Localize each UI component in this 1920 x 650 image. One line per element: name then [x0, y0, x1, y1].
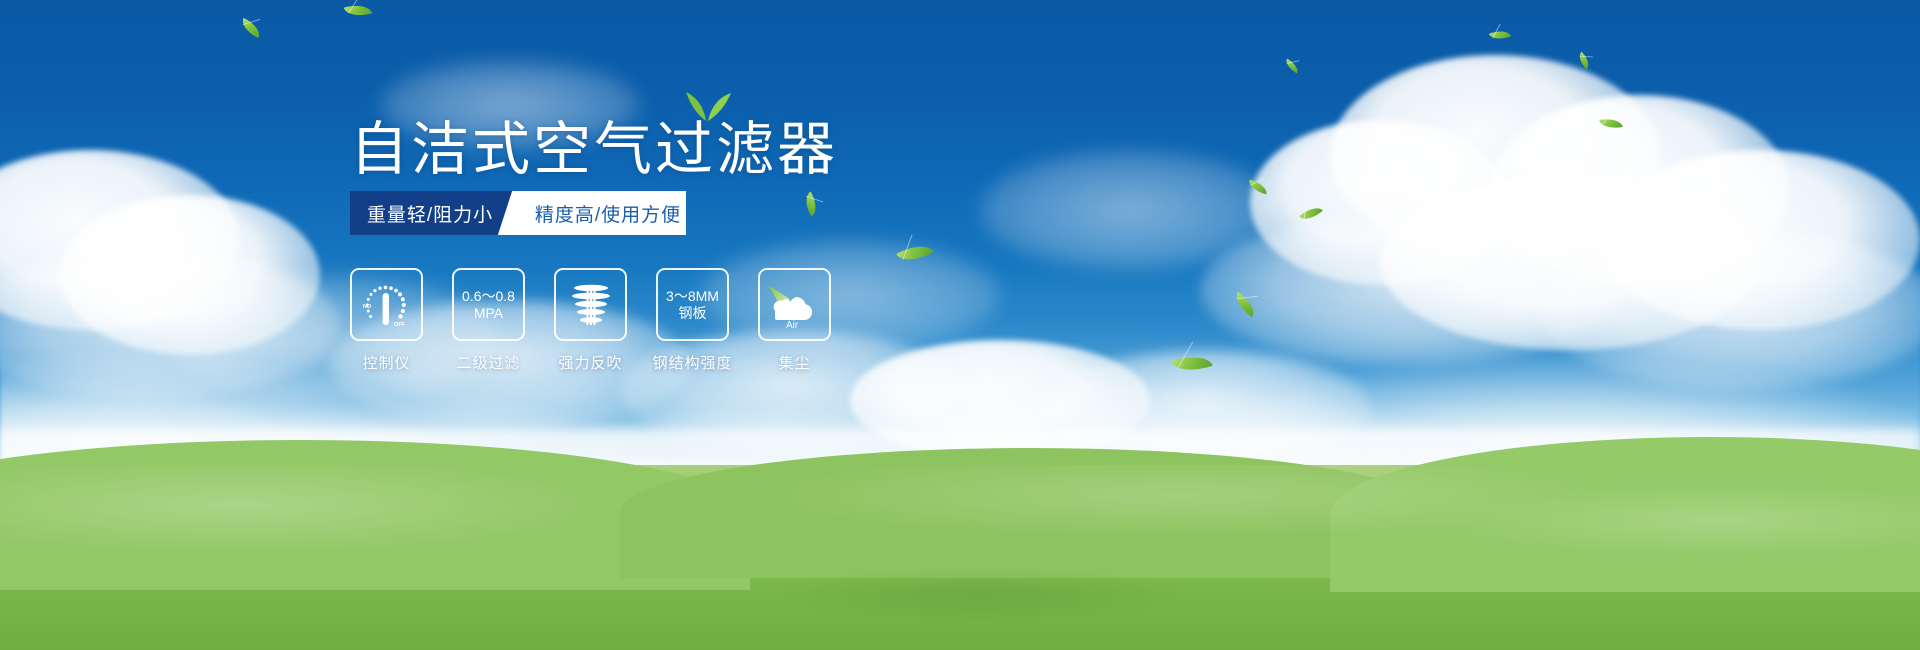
- badge-label: 重量轻/阻力小: [367, 200, 493, 227]
- feature-box: 3～8MM 钢板: [656, 268, 729, 341]
- feature-box-text-2: 钢板: [679, 305, 707, 322]
- cloud-air-icon: Air: [766, 283, 824, 329]
- svg-text:OFF: OFF: [394, 322, 405, 328]
- feature-item-controller[interactable]: NO OFF 控制仪: [350, 268, 423, 373]
- coil-icon: [565, 279, 617, 331]
- feature-box-text: 0.6～0.8: [462, 288, 515, 305]
- feature-item-blowback[interactable]: 强力反吹: [554, 268, 627, 373]
- svg-text:NO: NO: [363, 304, 371, 310]
- feature-box-text-2: MPA: [474, 305, 503, 322]
- badge-lightweight[interactable]: 重量轻/阻力小: [350, 191, 516, 235]
- feature-label: 二级过滤: [442, 352, 535, 373]
- feature-item-pressure[interactable]: 0.6～0.8 MPA 二级过滤: [452, 268, 525, 373]
- sprout-icon: [683, 88, 733, 122]
- feature-item-dust[interactable]: Air 集尘: [758, 268, 831, 373]
- feature-box-text: 3～8MM: [666, 288, 719, 305]
- badge-label: 精度高/使用方便: [535, 200, 681, 227]
- feature-label: 集尘: [758, 352, 831, 373]
- feature-box: [554, 268, 627, 341]
- badge-precision[interactable]: 精度高/使用方便: [516, 191, 686, 235]
- banner-content: 自洁式空气过滤器 重量轻/阻力小 精度高/使用方便: [0, 0, 1920, 650]
- feature-label: 控制仪: [344, 352, 429, 373]
- feature-item-steel[interactable]: 3～8MM 钢板 钢结构强度: [656, 268, 729, 373]
- feature-box: Air: [758, 268, 831, 341]
- feature-badges: 重量轻/阻力小 精度高/使用方便: [350, 191, 686, 235]
- feature-box: 0.6～0.8 MPA: [452, 268, 525, 341]
- feature-list: NO OFF 控制仪 0.6～0.8 MPA 二级过滤: [350, 268, 831, 373]
- svg-text:Air: Air: [786, 320, 799, 329]
- feature-label: 强力反吹: [548, 352, 633, 373]
- page-title: 自洁式空气过滤器: [350, 118, 838, 182]
- feature-label: 钢结构强度: [639, 352, 746, 373]
- hero-banner: 自洁式空气过滤器 重量轻/阻力小 精度高/使用方便: [0, 0, 1920, 650]
- gauge-icon: NO OFF: [360, 280, 414, 330]
- feature-box: NO OFF: [350, 268, 423, 341]
